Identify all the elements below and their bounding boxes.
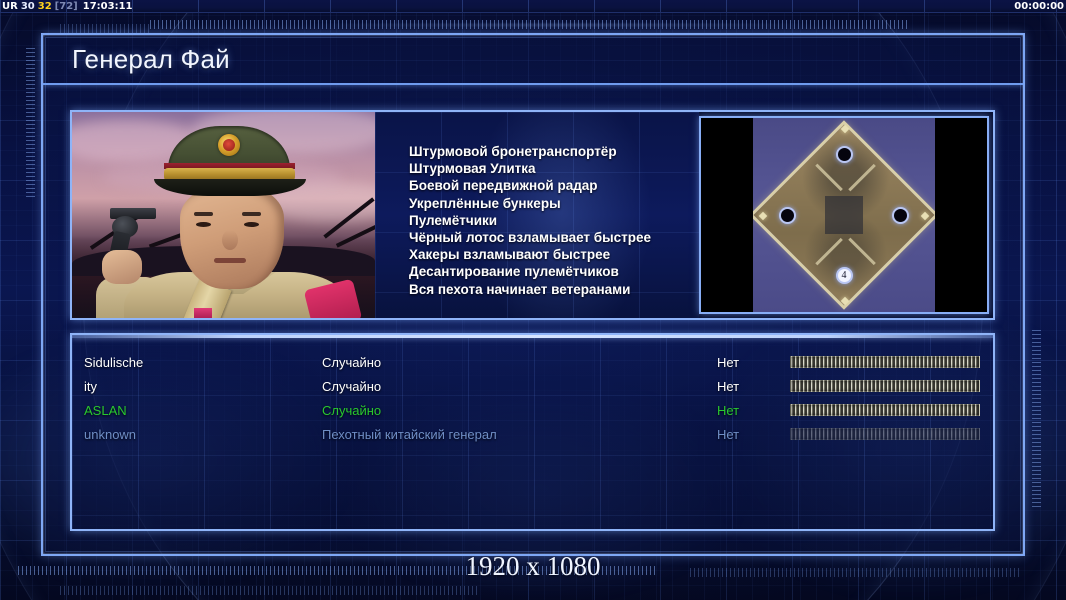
player-row[interactable]: ity Случайно Нет [72, 374, 993, 398]
column-header-army: Армия [322, 333, 363, 334]
ability-item: Десантирование пулемётчиков [409, 263, 699, 280]
status-timer: 00:00:00 [1014, 0, 1064, 13]
portrait-hand [102, 250, 142, 284]
map-spawn-point[interactable] [892, 207, 909, 224]
player-list-panel: Имя игрока Армия Команда Прогресс Siduli… [70, 333, 995, 531]
portrait-medal [194, 308, 212, 318]
title-bar: Генерал Фай [43, 35, 1023, 85]
progress-bar-fill [790, 428, 980, 440]
player-army[interactable]: Случайно [322, 403, 381, 418]
general-abilities-list: Штурмовой бронетранспортёр Штурмовая Ули… [375, 112, 699, 318]
status-bar-grid [0, 0, 1066, 12]
resolution-label: 1920 x 1080 [0, 551, 1066, 582]
ruler-ticks-top [150, 20, 910, 29]
portrait-mouth [214, 258, 246, 263]
status-bar-left: UR 30 32 [72] 17:03:11 [0, 1, 132, 12]
player-army[interactable]: Случайно [322, 355, 381, 370]
player-progress [790, 380, 980, 392]
player-team[interactable]: Нет [717, 379, 739, 394]
ruler-ticks-lower [60, 586, 480, 595]
ability-item: Вся пехота начинает ветеранами [409, 281, 699, 298]
status-clock: 17:03:11 [83, 1, 133, 12]
status-bar: UR 30 32 [72] 17:03:11 00:00:00 [0, 0, 1066, 13]
portrait-cap-badge [218, 134, 240, 156]
ability-item: Штурмовая Улитка [409, 160, 699, 177]
player-row[interactable]: unknown Пехотный китайский генерал Нет [72, 422, 993, 446]
player-team[interactable]: Нет [717, 403, 739, 418]
ability-item: Пулемётчики [409, 212, 699, 229]
player-team[interactable]: Нет [717, 355, 739, 370]
player-progress [790, 428, 980, 440]
map-preview[interactable]: 4 [699, 116, 989, 314]
status-number-3: [72] [55, 1, 78, 12]
player-army[interactable]: Пехотный китайский генерал [322, 427, 497, 442]
progress-bar-fill [790, 404, 980, 416]
background-streak-top [300, 24, 820, 26]
status-number-1: 30 [21, 1, 35, 12]
portrait-nose [222, 230, 238, 250]
ruler-ticks-right [1032, 330, 1041, 510]
progress-bar-fill [790, 380, 980, 392]
map-letterbox-right [935, 118, 987, 312]
map-spawn-point[interactable] [779, 207, 796, 224]
player-name: ity [84, 379, 97, 394]
header-divider [72, 335, 993, 338]
status-ur-label: UR [2, 1, 18, 12]
column-header-name: Имя игрока [84, 333, 154, 334]
map-center-plateau [825, 196, 863, 234]
ruler-ticks-left [26, 48, 35, 198]
player-team[interactable]: Нет [717, 427, 739, 442]
column-header-progress: Прогресс [790, 333, 848, 334]
player-progress [790, 356, 980, 368]
portrait-eye-left [196, 222, 211, 227]
game-lobby-screen: UR 30 32 [72] 17:03:11 00:00:00 Генерал … [0, 0, 1066, 600]
general-info-panel: Штурмовой бронетранспортёр Штурмовая Ули… [70, 110, 995, 320]
general-fai-portrait [72, 112, 375, 318]
ability-item: Боевой передвижной радар [409, 177, 699, 194]
map-spawn-point-4[interactable]: 4 [836, 267, 853, 284]
map-letterbox-left [701, 118, 753, 312]
ruler-ticks-top-outer [60, 24, 150, 33]
map-spawn-point[interactable] [836, 146, 853, 163]
ability-item: Чёрный лотос взламывает быстрее [409, 229, 699, 246]
player-army[interactable]: Случайно [322, 379, 381, 394]
player-row-self[interactable]: ASLAN Случайно Нет [72, 398, 993, 422]
player-name: ASLAN [84, 403, 127, 418]
portrait-brow-right [242, 212, 261, 216]
progress-bar-fill [790, 356, 980, 368]
ability-item: Хакеры взламывают быстрее [409, 246, 699, 263]
map-canvas: 4 [753, 118, 935, 312]
portrait-eye-right [244, 222, 259, 227]
portrait-brow-left [194, 212, 213, 216]
player-row[interactable]: Sidulische Случайно Нет [72, 350, 993, 374]
status-number-2: 32 [38, 1, 52, 12]
player-name: unknown [84, 427, 136, 442]
column-header-team: Команда [717, 333, 771, 334]
lobby-frame: Генерал Фай [41, 33, 1025, 556]
player-progress [790, 404, 980, 416]
player-name: Sidulische [84, 355, 143, 370]
ability-item: Штурмовой бронетранспортёр [409, 143, 699, 160]
ability-item: Укреплённые бункеры [409, 195, 699, 212]
page-title: Генерал Фай [43, 44, 230, 75]
